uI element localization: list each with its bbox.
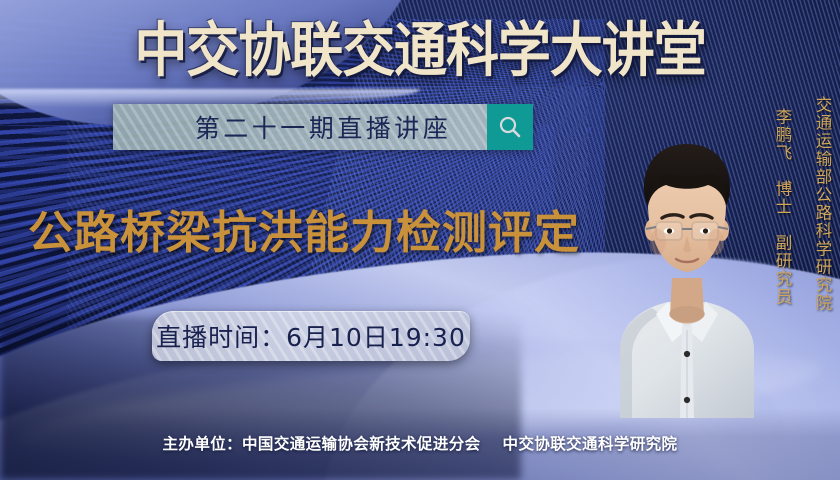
footer-co-organizer: 中交协联交通科学研究院 <box>503 435 678 453</box>
episode-banner: 第二十一期直播讲座 <box>113 104 533 150</box>
footer-organizer: 主办单位：中国交通运输协会新技术促进分会 <box>163 435 481 453</box>
broadcast-time-text: 直播时间：6月10日19:30 <box>156 318 466 354</box>
episode-banner-field: 第二十一期直播讲座 <box>113 104 487 150</box>
speaker-portrait <box>612 118 762 418</box>
broadcast-time-badge: 直播时间：6月10日19:30 <box>152 311 470 361</box>
page-title: 中交协联交通科学大讲堂 <box>0 14 840 87</box>
episode-label: 第二十一期直播讲座 <box>149 109 452 145</box>
poster-canvas: 中交协联交通科学大讲堂 第二十一期直播讲座 公路桥梁抗洪能力检测评定 直播时间：… <box>0 0 840 480</box>
speaker-name-and-title: 李鹏飞 博士 副研究员 <box>770 108 794 306</box>
search-button[interactable] <box>487 104 533 150</box>
search-icon <box>497 114 523 140</box>
speaker-organization: 交通运输部公路科学研究院 <box>810 96 834 312</box>
footer-organizers: 主办单位：中国交通运输协会新技术促进分会中交协联交通科学研究院 <box>0 432 840 454</box>
lecture-topic-title: 公路桥梁抗洪能力检测评定 <box>28 204 580 262</box>
